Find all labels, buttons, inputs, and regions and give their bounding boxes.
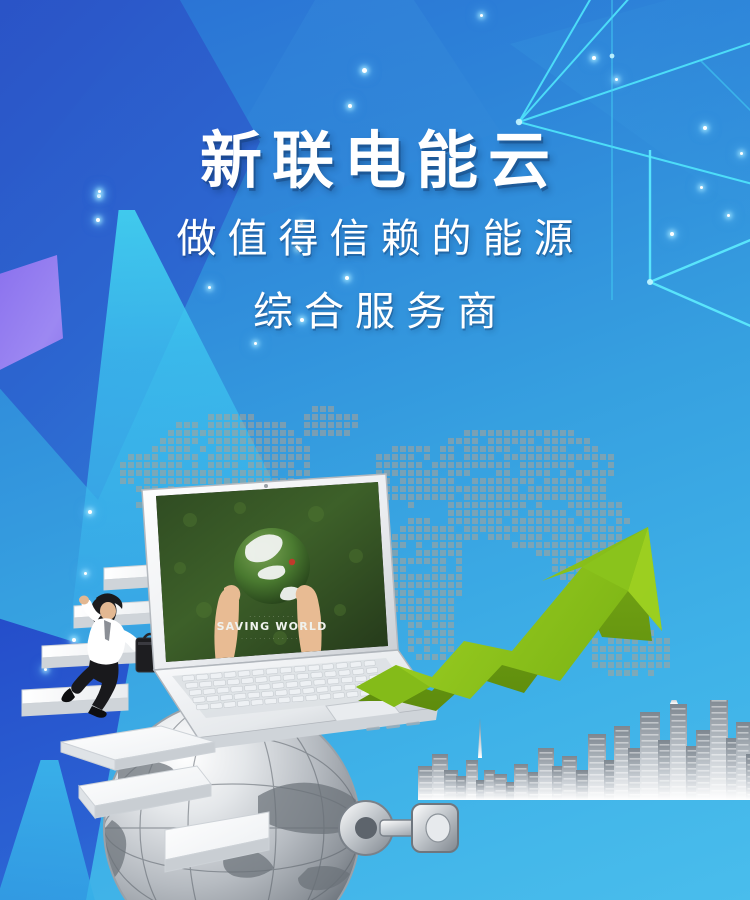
page-title: 新联电能云 <box>0 128 750 195</box>
promotional-poster: 新联电能云 做值得信赖的能源 综合服务商 <box>0 0 750 900</box>
glow-dot <box>615 78 618 81</box>
subtitle-line-1: 做值得信赖的能源 <box>0 211 750 268</box>
glow-dot <box>348 104 352 108</box>
glow-dot <box>362 68 367 73</box>
growth-arrow-graphic <box>352 515 682 735</box>
glow-dot <box>254 342 257 345</box>
glow-dot <box>592 56 596 60</box>
svg-text:· · · · · · · · · ·: · · · · · · · · · · <box>249 614 294 619</box>
headline-block: 新联电能云 做值得信赖的能源 综合服务商 <box>0 128 750 341</box>
glow-dot <box>480 14 483 17</box>
floating-platforms-graphic <box>55 690 385 890</box>
laptop-screen-caption: SAVING WORLD <box>217 620 328 633</box>
subtitle-line-2: 综合服务商 <box>0 284 750 341</box>
svg-text:· · · · · · · · · · · · · ·: · · · · · · · · · · · · · · <box>241 636 302 641</box>
